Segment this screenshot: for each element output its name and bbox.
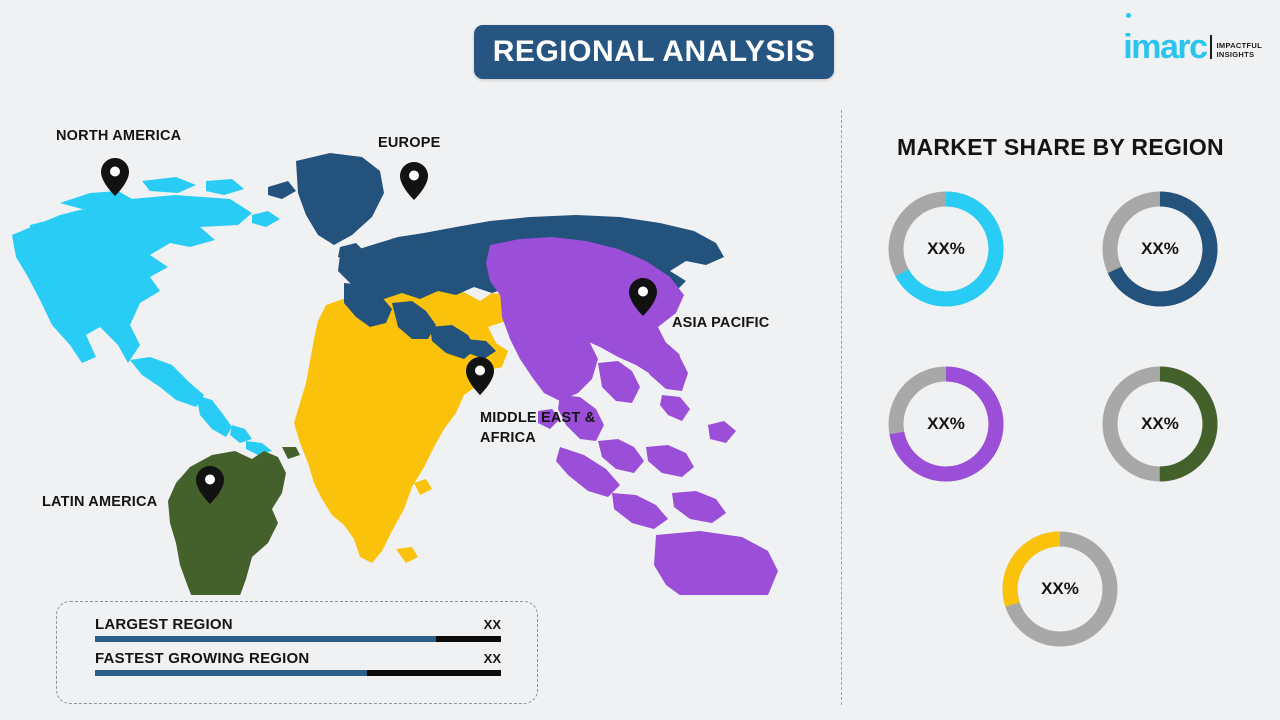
page-title-banner: REGIONAL ANALYSIS [474, 25, 834, 79]
legend-value: XX [484, 617, 501, 632]
logo-dot-icon [1126, 13, 1131, 18]
map-pin-latin-america-icon[interactable] [196, 466, 224, 504]
donut-middle-east-africa: XX% [996, 525, 1124, 653]
map-pin-north-america-icon[interactable] [101, 158, 129, 196]
map-region-north-america [12, 177, 280, 455]
donut-value-label: XX% [1096, 185, 1224, 313]
logo-divider [1210, 35, 1212, 59]
legend-progress-fill [95, 636, 436, 642]
legend-progress-bar [95, 670, 501, 676]
legend-label: FASTEST GROWING REGION [95, 650, 309, 667]
logo-tagline: IMPACTFUL INSIGHTS [1217, 41, 1262, 59]
donut-latin-america: XX% [1096, 360, 1224, 488]
legend-label: LARGEST REGION [95, 616, 233, 633]
donut-asia-pacific: XX% [882, 360, 1010, 488]
market-share-title: MARKET SHARE BY REGION [841, 134, 1280, 161]
logo-tagline-line2: INSIGHTS [1217, 50, 1262, 59]
map-label-asia-pacific: ASIA PACIFIC [672, 313, 769, 333]
map-region-latin-america [168, 447, 300, 595]
legend-value: XX [484, 651, 501, 666]
logo-tagline-line1: IMPACTFUL [1217, 41, 1262, 50]
map-label-latin-america: LATIN AMERICA [42, 492, 157, 512]
imarc-logo: imarc IMPACTFUL INSIGHTS [1123, 22, 1262, 62]
map-label-europe: EUROPE [378, 133, 440, 153]
legend-row-header: LARGEST REGION XX [95, 616, 501, 633]
map-pin-middle-east-africa-icon[interactable] [466, 357, 494, 395]
legend-progress-bar [95, 636, 501, 642]
map-label-north-america: NORTH AMERICA [56, 126, 181, 146]
logo-wordmark: imarc [1123, 32, 1206, 62]
map-pin-europe-icon[interactable] [400, 162, 428, 200]
map-pin-asia-pacific-icon[interactable] [629, 278, 657, 316]
map-region-greenland [268, 153, 384, 245]
donut-value-label: XX% [882, 185, 1010, 313]
legend-row-largest-region: LARGEST REGION XX [95, 616, 501, 642]
donut-value-label: XX% [996, 525, 1124, 653]
region-summary-legend: LARGEST REGION XX FASTEST GROWING REGION… [56, 601, 538, 704]
donut-north-america: XX% [882, 185, 1010, 313]
donut-value-label: XX% [882, 360, 1010, 488]
map-label-middle-east-africa: MIDDLE EAST & AFRICA [480, 408, 595, 448]
donut-europe: XX% [1096, 185, 1224, 313]
legend-row-header: FASTEST GROWING REGION XX [95, 650, 501, 667]
page-title: REGIONAL ANALYSIS [493, 35, 815, 69]
donut-value-label: XX% [1096, 360, 1224, 488]
panel-divider [841, 110, 842, 705]
legend-row-fastest-growing-region: FASTEST GROWING REGION XX [95, 650, 501, 676]
infographic-page: REGIONAL ANALYSIS imarc IMPACTFUL INSIGH… [0, 0, 1280, 720]
legend-progress-fill [95, 670, 367, 676]
